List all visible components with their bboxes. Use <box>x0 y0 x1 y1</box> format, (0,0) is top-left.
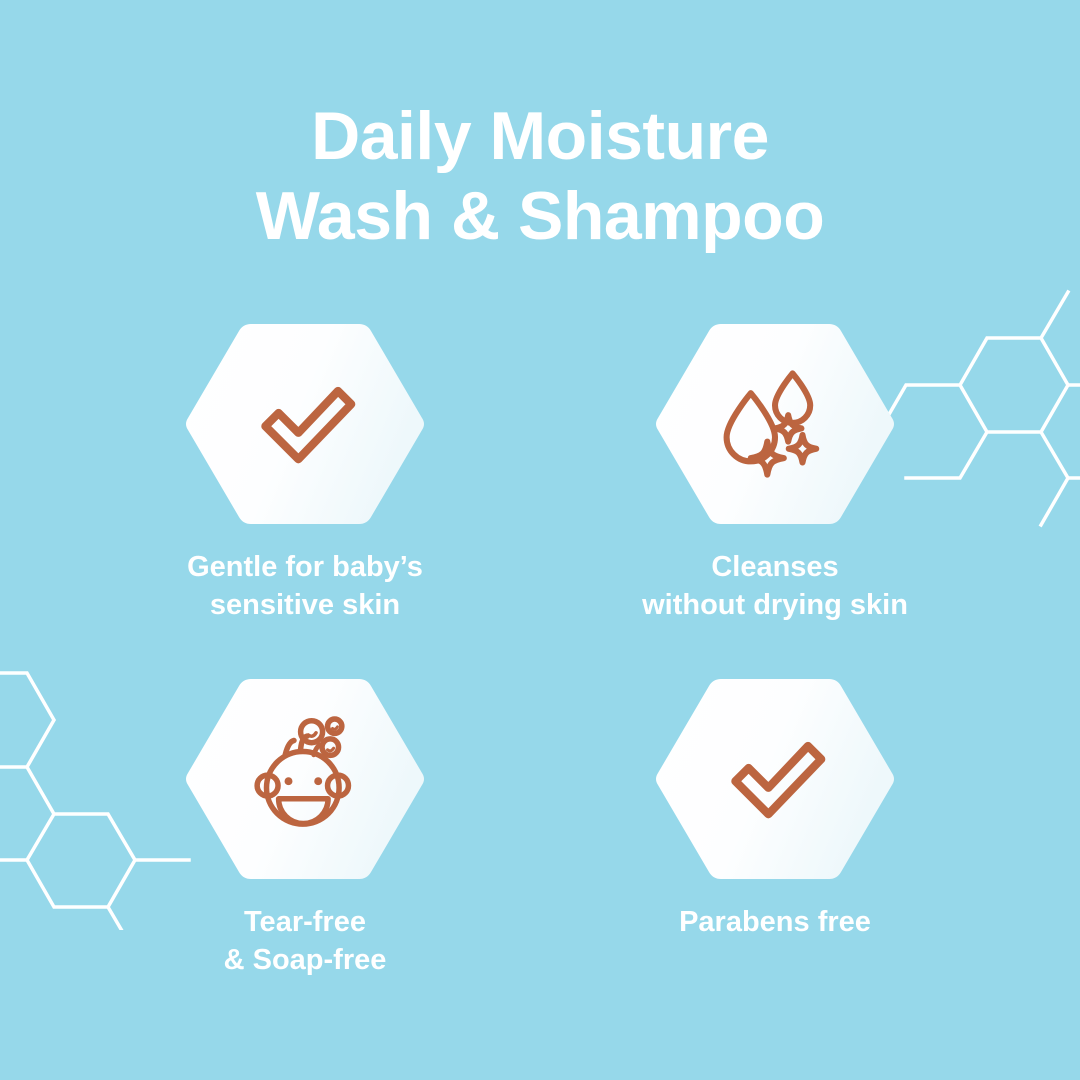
checkmark-icon <box>239 358 371 490</box>
feature-label: Parabens free <box>679 903 871 941</box>
page-title: Daily Moisture Wash & Shampoo <box>0 96 1080 256</box>
feature-label: Cleanses without drying skin <box>642 548 908 624</box>
feature-item-gentle: Gentle for baby’s sensitive skin <box>70 318 540 673</box>
feature-hex-tile <box>655 673 895 885</box>
feature-grid: Gentle for baby’s sensitive skin <box>70 318 1010 1028</box>
feature-label: Gentle for baby’s sensitive skin <box>187 548 423 624</box>
feature-hex-tile <box>655 318 895 530</box>
feature-label: Tear-free & Soap-free <box>224 903 387 979</box>
feature-item-cleanses: Cleanses without drying skin <box>540 318 1010 673</box>
checkmark-icon <box>709 713 841 845</box>
water-droplets-sparkle-icon <box>709 358 841 490</box>
title-line-1: Daily Moisture <box>0 96 1080 176</box>
product-feature-poster: Daily Moisture Wash & Shampoo <box>0 0 1080 1080</box>
title-line-2: Wash & Shampoo <box>0 176 1080 256</box>
feature-item-tear-free: Tear-free & Soap-free <box>70 673 540 1028</box>
baby-face-bubbles-icon <box>239 713 371 845</box>
feature-hex-tile <box>185 673 425 885</box>
feature-hex-tile <box>185 318 425 530</box>
feature-item-parabens-free: Parabens free <box>540 673 1010 1028</box>
